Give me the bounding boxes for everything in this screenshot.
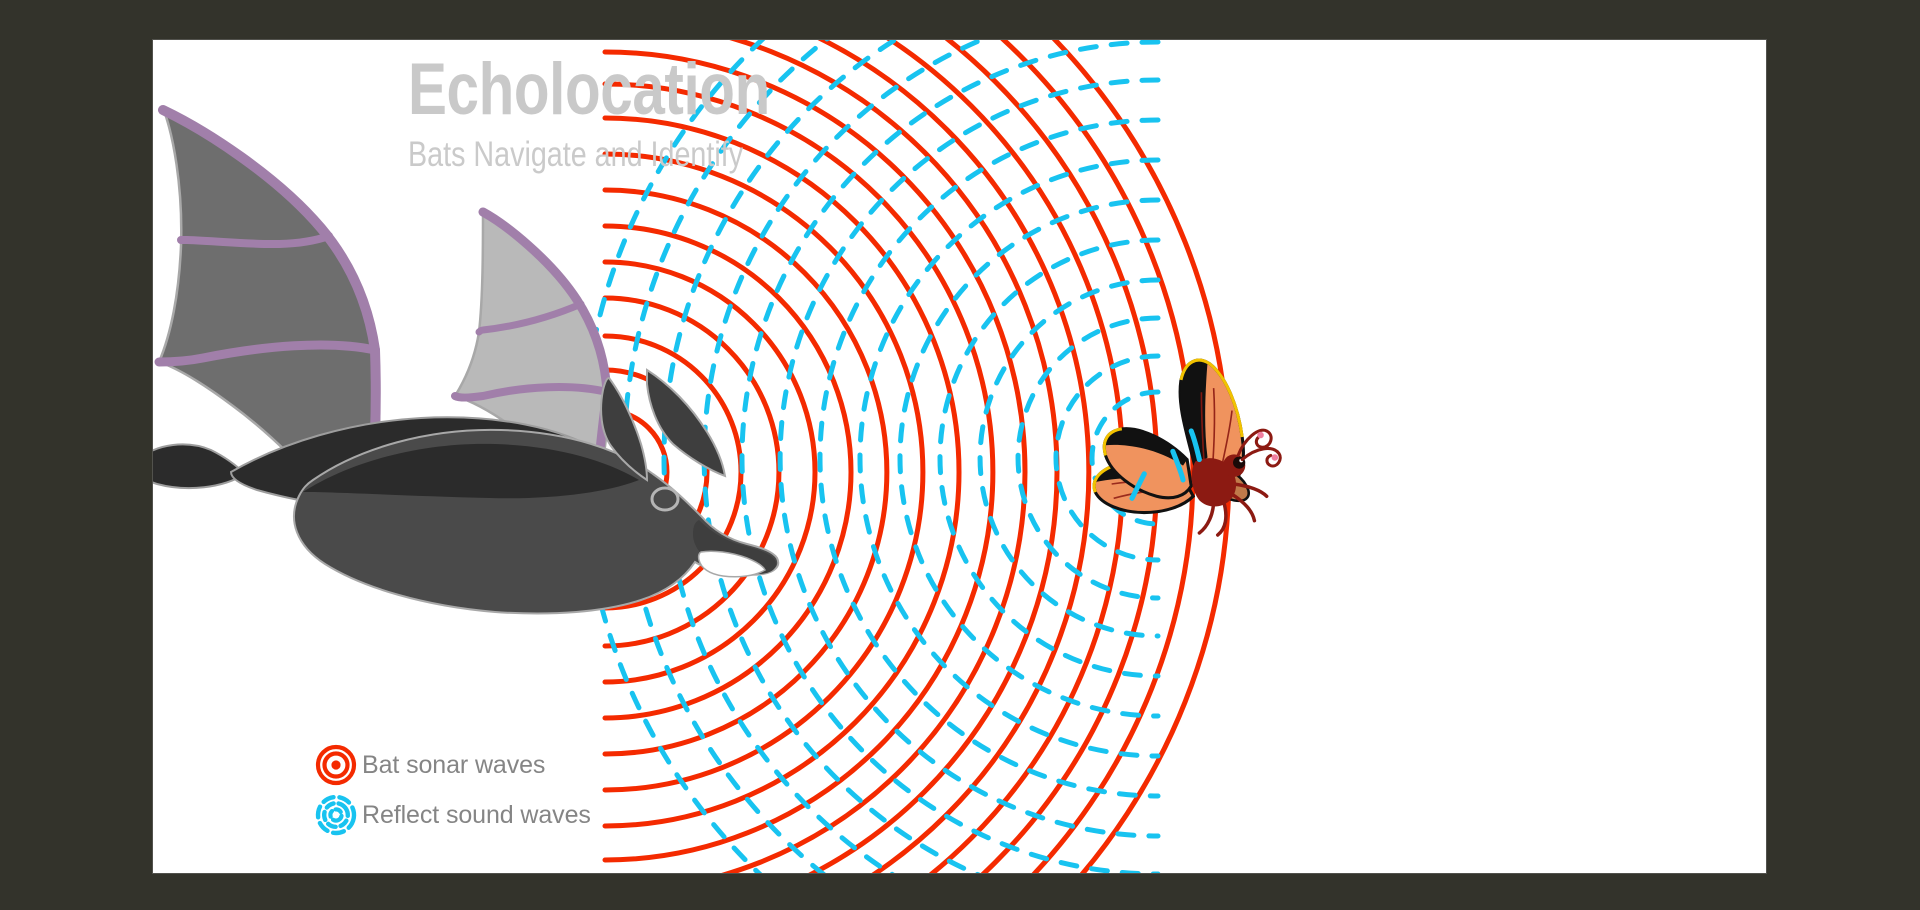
legend-label-reflect-sound-waves: Reflect sound waves	[362, 801, 591, 830]
legend-item-bat-sonar-waves[interactable]: Bat sonar waves	[315, 740, 591, 790]
moth-target	[1094, 360, 1280, 535]
screenshot-root: Echolocation Bats Navigate and Identify …	[0, 0, 1920, 910]
legend-label-bat-sonar-waves: Bat sonar waves	[362, 751, 545, 780]
legend: Bat sonar waves Reflect sound waves	[315, 740, 591, 840]
bat-eye	[652, 488, 678, 510]
concentric-circles-dashed-icon	[315, 794, 357, 836]
legend-item-reflect-sound-waves[interactable]: Reflect sound waves	[315, 790, 591, 840]
concentric-circles-solid-icon	[315, 744, 357, 786]
poster-canvas: Echolocation Bats Navigate and Identify …	[153, 40, 1766, 873]
